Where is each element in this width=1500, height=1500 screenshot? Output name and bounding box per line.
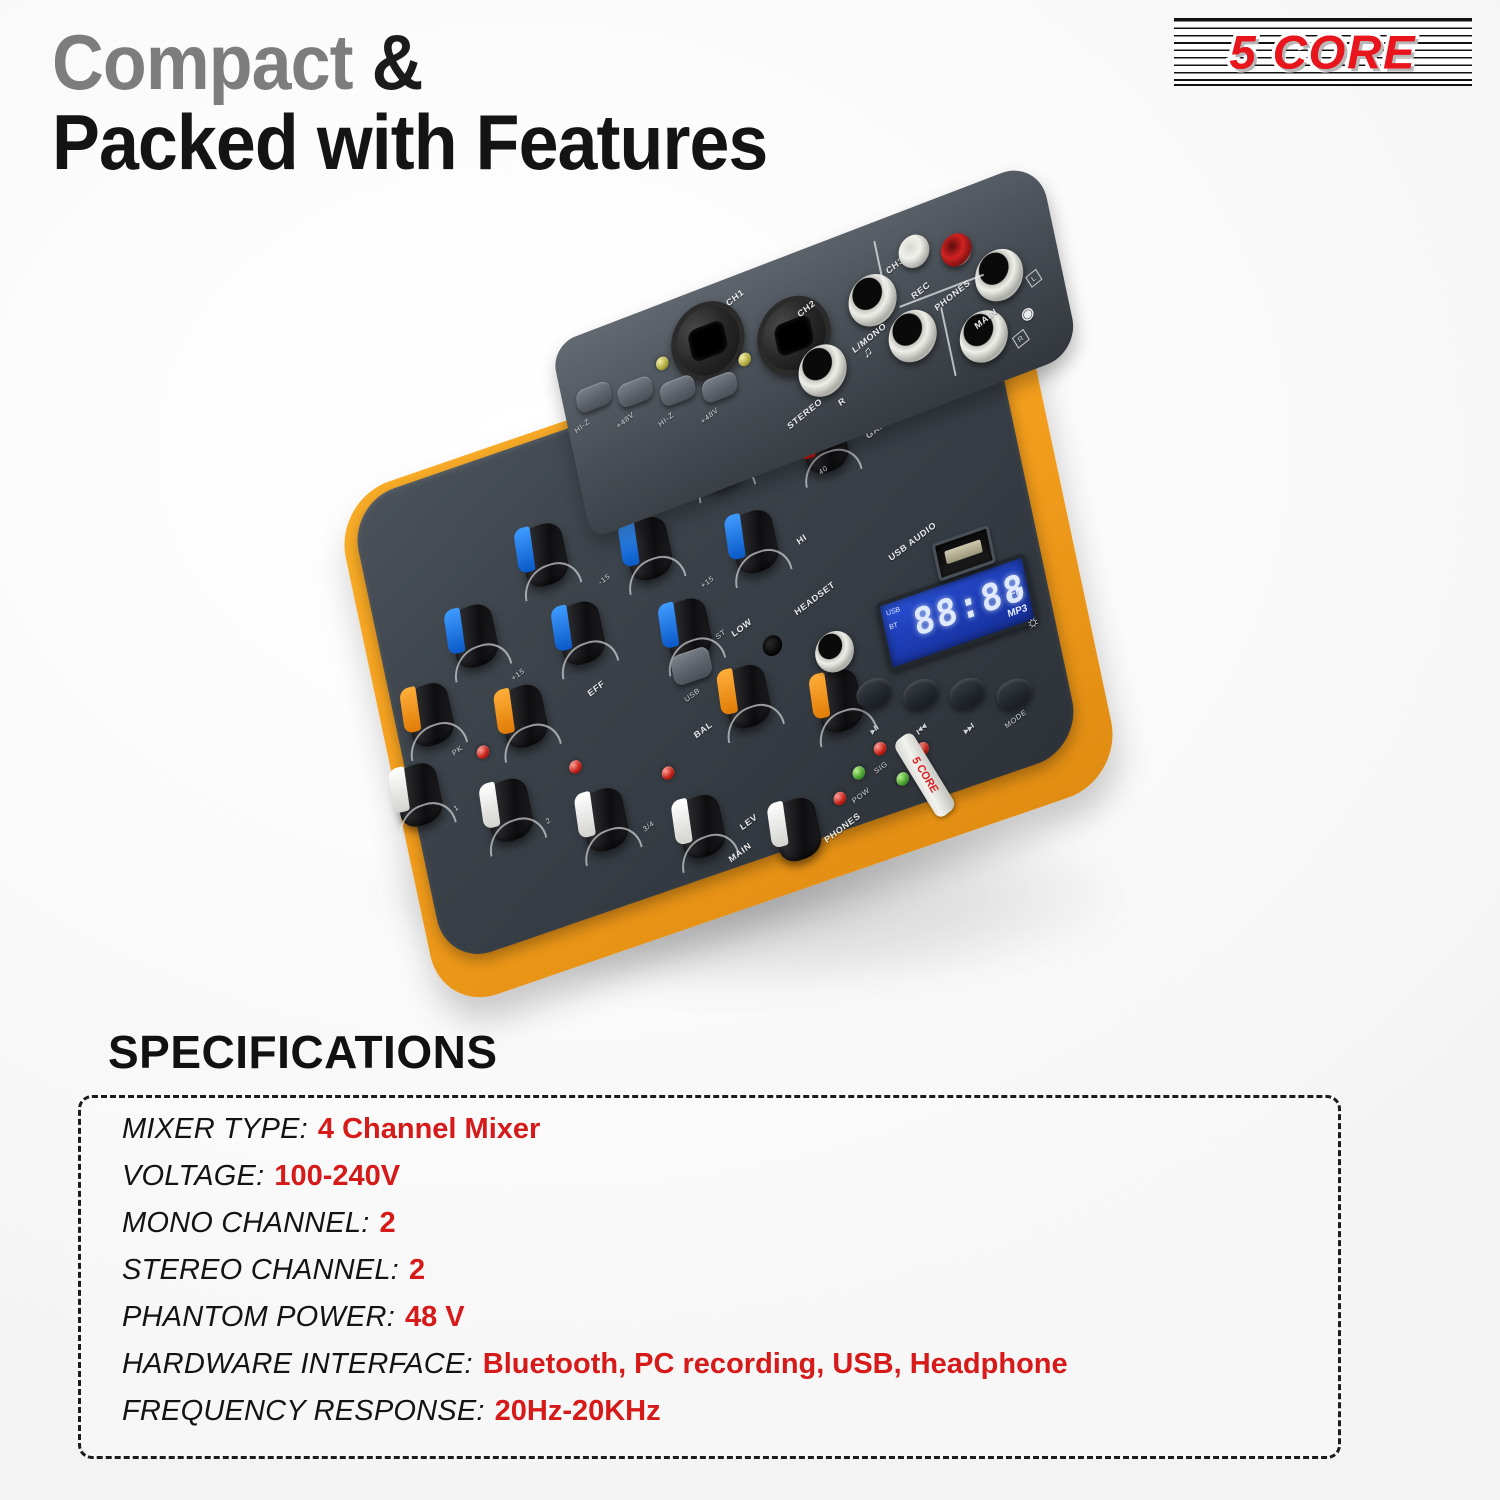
led-sig-2 [895,770,910,787]
label-usb-audio: USB AUDIO [887,520,938,563]
spec-row: STEREO CHANNEL:2 [122,1254,1342,1301]
label-ch-1: 1 [452,803,461,813]
spec-key: STEREO CHANNEL: [122,1254,399,1287]
headset-phone-jack[interactable] [811,625,857,677]
label-usb: USB [683,686,702,704]
forward-icon: ⏭ [960,718,978,739]
mode-button[interactable] [994,674,1034,713]
spec-key: HARDWARE INTERFACE: [122,1348,473,1381]
spec-key: MONO CHANNEL: [122,1207,370,1240]
label-low-minus15: -15 [597,572,612,587]
led-sig [851,764,866,781]
product-image-mixer: GAIN 60 40 10 HI LOW -15 [255,215,1285,1025]
led-pow [832,790,847,807]
lcd-usb-indicator: USB [886,606,901,618]
lcd-bt-indicator: BT [889,622,899,632]
label-bal: BAL [692,719,714,740]
headset-mic-jack[interactable] [761,633,784,659]
label-pow: POW [851,786,872,806]
spec-row: FREQUENCY RESPONSE:20Hz-20KHz [122,1395,1342,1442]
led-pk-ch1 [476,744,491,761]
headline-ampersand: & [372,18,423,106]
label-st: ST [714,627,727,641]
mixer-body: GAIN 60 40 10 HI LOW -15 [198,53,1342,1187]
label-lev: LEV [738,812,759,832]
page-title: Compact & Packed with Features [52,24,972,181]
label-eff: EFF [586,678,607,698]
logo-text: 5 CORE [1174,25,1472,80]
label-hi: HI [795,532,808,547]
label-eff-plus15: +15 [510,666,527,683]
label-hi-plus15: +15 [699,574,716,591]
spec-row: MONO CHANNEL:2 [122,1207,1342,1254]
label-low: LOW [730,616,754,639]
spec-row: VOLTAGE:100-240V [122,1160,1342,1207]
spec-key: FREQUENCY RESPONSE: [122,1395,485,1428]
headline-line1-emphasis: Compact [52,18,353,106]
spec-key: MIXER TYPE: [122,1113,308,1146]
spec-value: Bluetooth, PC recording, USB, Headphone [483,1348,1068,1381]
brand-logo: 5 CORE 5 CORE [1174,18,1472,86]
spec-row: PHANTOM POWER:48 V [122,1301,1342,1348]
spec-key: VOLTAGE: [122,1160,264,1193]
label-headset: HEADSET [793,579,837,617]
led-pk-ch34 [661,764,676,781]
lcd-digits: 88:88 [910,566,1031,645]
label-ch-2: 2 [544,815,553,825]
label-mode: MODE [1003,707,1028,730]
label-ch-34: 3/4 [641,819,656,834]
product-badge-text: 5 CORE [909,754,940,795]
spec-row: HARDWARE INTERFACE:Bluetooth, PC recordi… [122,1348,1342,1395]
led-pk-ch2 [568,758,583,775]
next-track-button[interactable] [947,673,987,712]
spec-value: 48 V [405,1301,465,1334]
rewind-icon: ⏮ [913,719,931,740]
spec-row: MIXER TYPE:4 Channel Mixer [122,1113,1342,1160]
led-clip [873,740,888,757]
poster-canvas: Compact & Packed with Features 5 CORE 5 … [0,0,1500,1500]
spec-value: 2 [409,1254,425,1287]
spec-value: 100-240V [274,1160,400,1193]
specifications-title: SPECIFICATIONS [108,1025,498,1079]
spec-value: 4 Channel Mixer [318,1113,540,1146]
spec-key: PHANTOM POWER: [122,1301,395,1334]
label-sig: SIG [872,759,889,776]
specifications-list: MIXER TYPE:4 Channel MixerVOLTAGE:100-24… [122,1113,1342,1442]
spec-value: 20Hz-20KHz [495,1395,661,1428]
spec-value: 2 [380,1207,396,1240]
previous-track-button[interactable] [901,674,941,713]
